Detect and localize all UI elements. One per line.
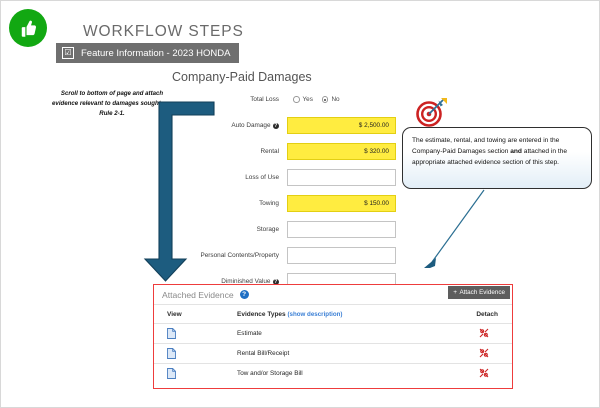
form-row-personal-contents: Personal Contents/Property [181,245,396,266]
pointer-arrow-annotation [416,184,506,276]
input-personal-contents[interactable] [287,247,396,264]
broken-link-icon[interactable] [479,328,489,338]
column-header-detach: Detach [456,305,512,324]
total-loss-radio-group[interactable]: Yes No [287,96,396,103]
table-row: Tow and/or Storage Bill [154,364,512,384]
callout-text: The estimate, rental, and towing are ent… [412,135,582,168]
section-title: Company-Paid Damages [172,70,312,84]
attach-evidence-label: Attach Evidence [459,289,505,296]
feature-information-bar[interactable]: ☑ Feature Information - 2023 HONDA [56,43,239,63]
table-header-row: View Evidence Types (show description) D… [154,305,512,324]
input-loss-of-use[interactable] [287,169,396,186]
broken-link-icon[interactable] [479,348,489,358]
form-row-auto-damage: Auto Damage? $ 2,500.00 [181,115,396,136]
document-icon[interactable] [167,328,176,339]
field-label-rental: Rental [181,148,287,155]
document-icon[interactable] [167,368,176,379]
company-paid-damages-form: Total Loss Yes No Auto Damage? $ 2,500.0… [181,89,396,297]
input-storage[interactable] [287,221,396,238]
radio-no-icon[interactable] [322,96,329,103]
field-label-towing: Towing [181,200,287,207]
field-label-auto-damage: Auto Damage? [181,122,287,129]
cell-detach [456,364,512,384]
thumbs-up-icon [9,9,47,47]
show-description-link[interactable]: (show description) [287,311,342,318]
attached-evidence-title: Attached Evidence [162,290,234,300]
column-header-evidence-types: Evidence Types (show description) [232,305,456,324]
broken-link-icon[interactable] [479,368,489,378]
help-icon[interactable]: ? [240,290,249,299]
screenshot-canvas: WORKFLOW STEPS ☑ Feature Information - 2… [0,0,600,408]
attached-evidence-table: View Evidence Types (show description) D… [154,304,512,384]
radio-option-yes[interactable]: Yes [293,96,313,103]
cell-detach [456,324,512,344]
feature-information-label: Feature Information - 2023 HONDA [81,48,230,59]
radio-label-yes: Yes [303,96,313,103]
plus-icon: + [453,289,457,296]
field-label-total-loss: Total Loss [181,96,287,103]
cell-detach [456,344,512,364]
attached-evidence-header: Attached Evidence ? + Attach Evidence [154,285,512,304]
field-label-personal-contents: Personal Contents/Property [181,252,287,259]
form-row-towing: Towing $ 150.00 [181,193,396,214]
cell-evidence-type: Estimate [232,324,456,344]
cell-evidence-type: Tow and/or Storage Bill [232,364,456,384]
table-row: Estimate [154,324,512,344]
checkbox-icon[interactable]: ☑ [62,47,74,59]
input-towing[interactable]: $ 150.00 [287,195,396,212]
table-row: Rental Bill/Receipt [154,344,512,364]
form-row-total-loss: Total Loss Yes No [181,89,396,110]
form-row-rental: Rental $ 320.00 [181,141,396,162]
help-icon[interactable]: ? [273,123,280,130]
cell-view [154,344,232,364]
callout-bubble: The estimate, rental, and towing are ent… [402,127,592,189]
cell-evidence-type: Rental Bill/Receipt [232,344,456,364]
cell-view [154,324,232,344]
column-header-view: View [154,305,232,324]
form-row-storage: Storage [181,219,396,240]
field-label-loss-of-use: Loss of Use [181,174,287,181]
radio-option-no[interactable]: No [322,96,340,103]
cell-view [154,364,232,384]
radio-label-no: No [331,96,339,103]
attached-evidence-panel: Attached Evidence ? + Attach Evidence Vi… [153,284,513,389]
page-title: WORKFLOW STEPS [83,23,244,41]
target-dart-icon [414,97,448,127]
form-row-loss-of-use: Loss of Use [181,167,396,188]
input-auto-damage[interactable]: $ 2,500.00 [287,117,396,134]
field-label-storage: Storage [181,226,287,233]
document-icon[interactable] [167,348,176,359]
radio-yes-icon[interactable] [293,96,300,103]
attach-evidence-button[interactable]: + Attach Evidence [448,286,510,299]
input-rental[interactable]: $ 320.00 [287,143,396,160]
